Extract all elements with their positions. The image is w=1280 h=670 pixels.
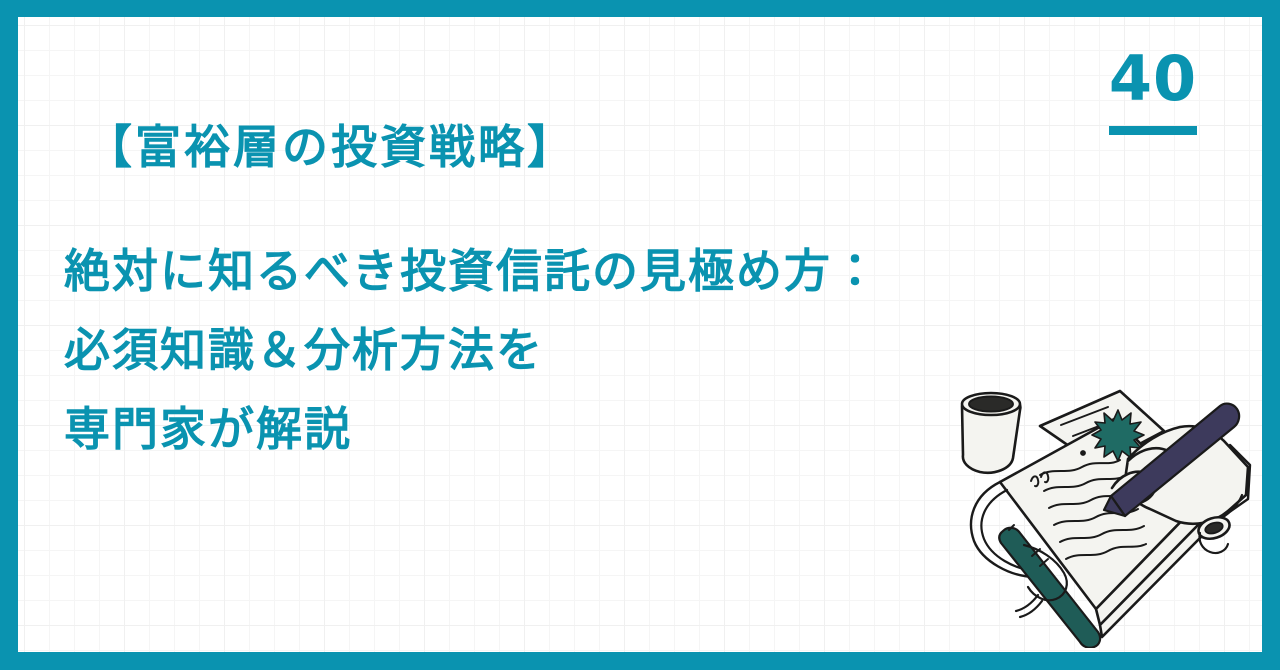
headline-line-2: 必須知識＆分析方法を: [64, 311, 964, 390]
badge-underline-rule: [1109, 126, 1197, 135]
coffee-cup-icon: [962, 393, 1020, 473]
number-badge: 40: [1098, 48, 1208, 135]
eyebrow-label: 【富裕層の投資戦略】: [86, 118, 964, 178]
headline-line-1: 絶対に知るべき投資信託の見極め方：: [64, 232, 964, 311]
headline-line-3: 専門家が解説: [64, 390, 964, 469]
text-block: 【富裕層の投資戦略】 絶対に知るべき投資信託の見極め方： 必須知識＆分析方法を …: [64, 118, 964, 469]
title-card: 40 【富裕層の投資戦略】 絶対に知るべき投資信託の見極め方： 必須知識＆分析方…: [0, 0, 1280, 670]
hand-writing-notebook-illustration: [928, 363, 1258, 648]
badge-number: 40: [1098, 48, 1208, 110]
page-title: 絶対に知るべき投資信託の見極め方： 必須知識＆分析方法を 専門家が解説: [64, 232, 964, 469]
